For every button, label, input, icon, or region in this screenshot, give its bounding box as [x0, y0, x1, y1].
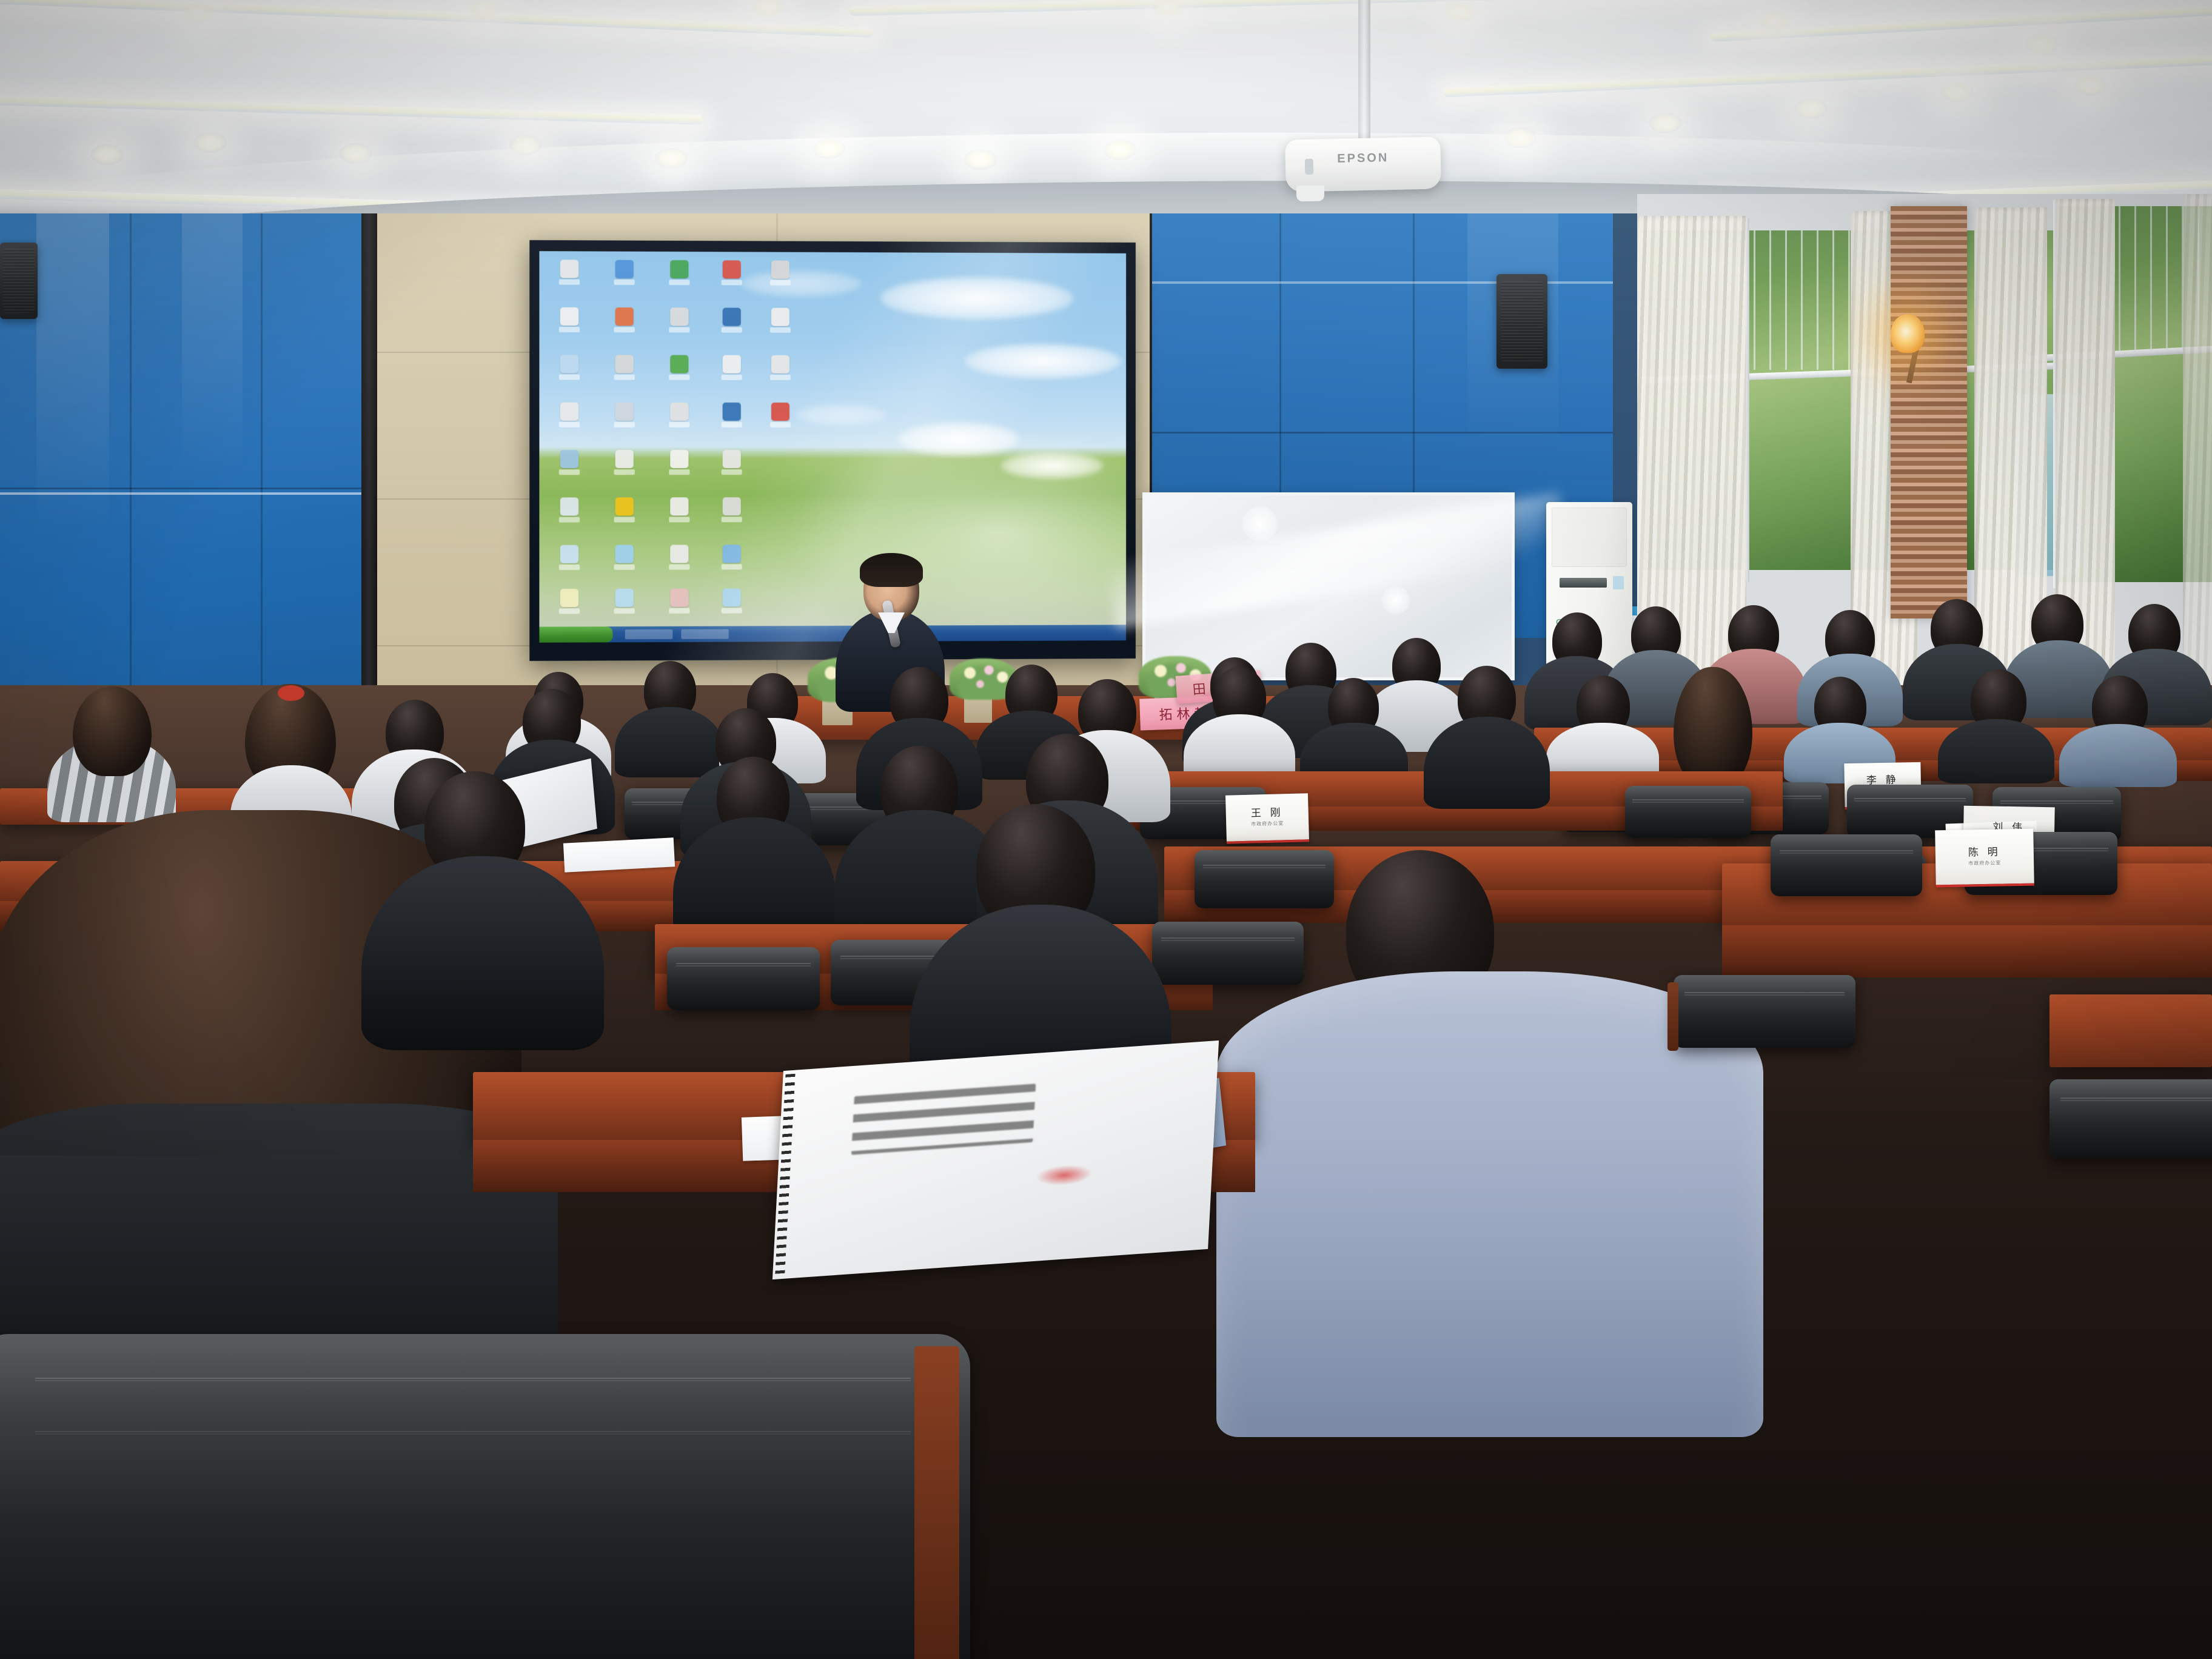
recessed-downlight	[509, 135, 542, 155]
whiteboard-glare-spot	[1242, 506, 1278, 541]
foreground-chair[interactable]	[2086, 1279, 2212, 1659]
executive-chair[interactable]	[1625, 786, 1751, 838]
executive-chair[interactable]	[1771, 834, 1922, 896]
recessed-downlight	[340, 143, 372, 164]
desktop-icon[interactable]	[770, 261, 791, 286]
recessed-downlight	[182, 2, 215, 23]
desktop-icon[interactable]	[669, 450, 689, 475]
start-button[interactable]	[539, 626, 612, 643]
desktop-icon[interactable]	[559, 307, 580, 332]
desktop-icon[interactable]	[669, 589, 689, 614]
audience-hair-long	[1674, 667, 1752, 788]
recessed-downlight	[91, 144, 124, 165]
desktop-icon[interactable]	[722, 545, 742, 569]
desktop-icon[interactable]	[559, 355, 580, 380]
name-card-name: 李 静	[1866, 775, 1899, 786]
camera-timestamp: 2014/05/17 09:30	[1527, 1524, 2156, 1594]
desktop-icon-grid	[554, 260, 810, 261]
handout-paper	[563, 837, 675, 872]
desktop-icon[interactable]	[669, 497, 689, 522]
projection-screen	[529, 240, 1136, 661]
recessed-downlight	[1795, 98, 1828, 119]
executive-chair[interactable]	[2049, 1079, 2212, 1158]
recessed-downlight	[964, 149, 997, 170]
name-card: 王 刚 市政府办公室	[1225, 793, 1309, 844]
desktop-icon[interactable]	[722, 588, 742, 613]
taskbar-button[interactable]	[625, 629, 673, 639]
hair-accessory-red	[278, 685, 304, 701]
projector-brand-label: EPSON	[1285, 150, 1441, 167]
projector-bracket	[1296, 186, 1324, 202]
desktop-icon[interactable]	[559, 589, 580, 614]
desktop-icon[interactable]	[559, 450, 580, 475]
wall-speaker	[1496, 274, 1547, 369]
presenter-hair	[860, 553, 923, 587]
desktop-icon[interactable]	[559, 545, 580, 570]
desktop-icon[interactable]	[614, 355, 635, 380]
desktop-icon[interactable]	[614, 307, 635, 332]
executive-chair[interactable]	[1152, 922, 1304, 985]
projector-mount-pole	[1358, 0, 1370, 146]
desktop-icon[interactable]	[669, 355, 689, 380]
desktop-icon[interactable]	[770, 403, 791, 427]
desktop-icon[interactable]	[559, 497, 580, 522]
desktop-icon[interactable]	[614, 589, 635, 614]
desktop-icon[interactable]	[669, 545, 689, 569]
chair-wood-trim	[1667, 982, 1678, 1051]
name-card-name: 王 刚	[1251, 807, 1284, 818]
recessed-downlight	[2025, 34, 2058, 55]
recessed-downlight	[2074, 75, 2106, 96]
booklet-text-lines	[851, 1084, 1036, 1155]
recessed-downlight	[1504, 127, 1537, 148]
desktop-icon[interactable]	[722, 307, 742, 332]
taskbar[interactable]	[539, 625, 1126, 642]
recessed-downlight	[1649, 113, 1682, 133]
audience-hair-long	[73, 686, 152, 776]
wall-speaker	[0, 243, 38, 319]
desktop-icon[interactable]	[722, 450, 742, 475]
desktop-icon[interactable]	[722, 497, 742, 522]
ac-display	[1613, 576, 1624, 589]
desktop-icon[interactable]	[722, 260, 742, 285]
desktop-icon[interactable]	[669, 403, 689, 427]
whiteboard-glare-sweep	[1107, 493, 1569, 629]
executive-chair[interactable]	[1674, 975, 1855, 1048]
conference-desk	[2049, 994, 2212, 1067]
desktop-icon[interactable]	[614, 260, 635, 285]
booklet-red-stamp	[1036, 1164, 1091, 1187]
name-card-sub: 市政府办公室	[1968, 860, 2001, 867]
chair-wood-trim	[1064, 1330, 1111, 1659]
desktop-icon[interactable]	[770, 308, 791, 333]
sheer-curtain[interactable]	[2183, 194, 2212, 703]
recessed-downlight	[1940, 81, 1973, 102]
desktop-icon[interactable]	[669, 260, 689, 285]
ac-top-panel	[1552, 508, 1627, 567]
conference-room-photo: EPSON	[0, 0, 2212, 1659]
taskbar-button[interactable]	[681, 629, 728, 639]
chair-wood-trim	[914, 1346, 959, 1659]
ac-vent	[1560, 578, 1607, 588]
foreground-chair[interactable]	[1091, 1316, 2122, 1659]
wall-sconce-lamp	[1891, 314, 1925, 353]
name-card: 陈 明 市政府办公室	[1935, 829, 2034, 888]
desktop-icon[interactable]	[614, 545, 635, 570]
name-card-name: 陈 明	[1968, 847, 2001, 858]
desktop-icon[interactable]	[669, 307, 689, 332]
recessed-downlight	[1758, 11, 1791, 32]
desktop-icon[interactable]	[614, 450, 635, 475]
executive-chair[interactable]	[1195, 850, 1334, 908]
desktop-icon[interactable]	[722, 403, 742, 427]
desktop-icon[interactable]	[614, 497, 635, 522]
projection-screen-image	[539, 251, 1126, 643]
desktop-icon[interactable]	[559, 403, 580, 427]
recessed-downlight	[194, 132, 227, 153]
recessed-downlight	[655, 148, 688, 169]
ceiling-projector: EPSON	[1285, 136, 1441, 192]
recessed-downlight	[1443, 1, 1476, 22]
recessed-downlight	[813, 138, 845, 159]
open-spiral-booklet[interactable]	[773, 1041, 1219, 1279]
desktop-icon[interactable]	[770, 355, 791, 380]
whiteboard-glare-spot	[1382, 586, 1410, 614]
executive-chair[interactable]	[667, 947, 820, 1010]
desktop-icon[interactable]	[559, 260, 580, 284]
striped-pillar	[1891, 206, 1967, 618]
desktop-icon[interactable]	[722, 355, 742, 380]
desktop-icon[interactable]	[614, 403, 635, 427]
conference-desk-front	[1722, 925, 2212, 977]
name-card-sub: 市政府办公室	[1251, 820, 1284, 827]
foreground-chair[interactable]	[0, 1334, 970, 1659]
recessed-downlight	[1104, 139, 1136, 160]
